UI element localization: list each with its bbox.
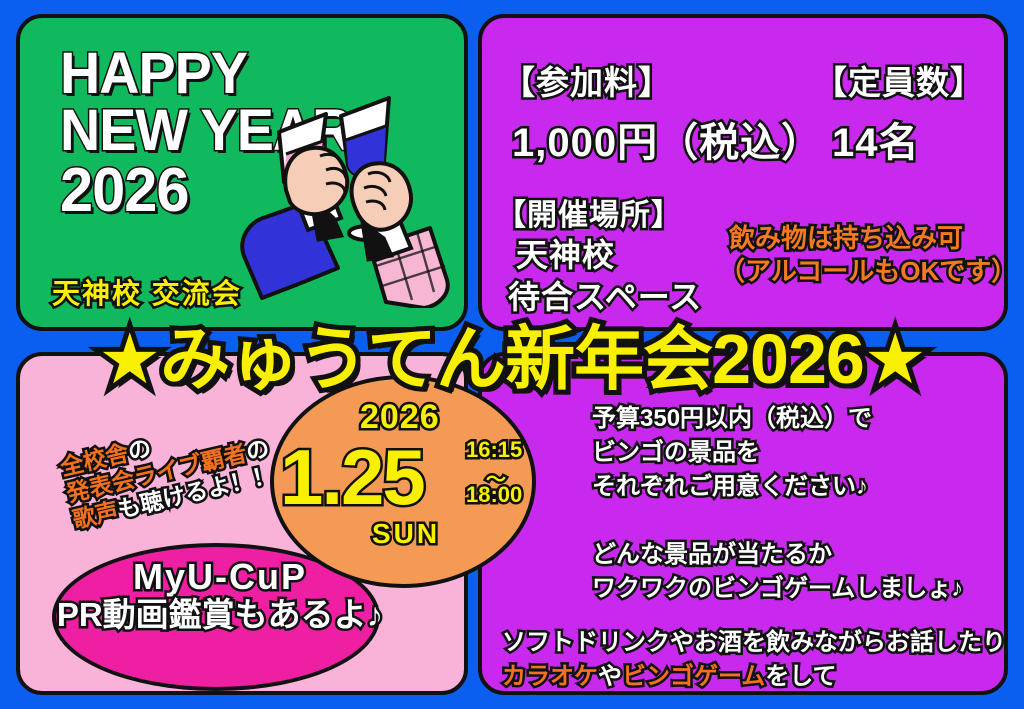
capacity-label: 【定員数】 <box>814 56 984 104</box>
poster-root: HAPPY NEW YEAR 2026 <box>0 0 1024 709</box>
closing-conjunction: や <box>598 663 622 690</box>
prize-note-line-2: ビンゴの景品を <box>592 432 760 467</box>
fee-label: 【参加料】 <box>502 56 672 104</box>
closing-suffix: をして <box>765 663 836 690</box>
closing-note-line-2: カラオケやビンゴゲームをして <box>502 656 837 691</box>
venue-label: 【開催場所】 <box>496 190 682 234</box>
bingo-highlight: ビンゴゲーム <box>622 663 765 690</box>
myucup-subtitle: PR動画鑑賞もあるよ♪ <box>30 597 410 634</box>
bingo-note-line-2: ワクワクのビンゴゲームしましょ♪ <box>592 568 963 603</box>
venue-line-1: 天神校 <box>516 230 615 276</box>
date-day: 1.25 <box>280 432 424 523</box>
toasting-wine-glasses-icon <box>234 70 456 308</box>
bingo-note-line-1: どんな景品が当たるか <box>592 534 832 569</box>
date-day-of-week: SUN <box>372 518 440 550</box>
prize-note-line-3: それぞれご用意ください♪ <box>592 466 868 501</box>
time-end: 18:00 <box>466 482 522 508</box>
byo-note-line-1: 飲み物は持ち込み可 <box>729 218 963 255</box>
capacity-value: 14名 <box>832 110 920 168</box>
details-panel: 【参加料】 1,000円（税込） 【定員数】 14名 【開催場所】 天神校 待合… <box>478 14 1008 331</box>
byo-note-line-2: （アルコールもOKです） <box>719 251 1008 288</box>
page-title: ★みゅうてん新年会2026★ <box>0 303 1024 404</box>
time-start: 16:15 <box>466 437 522 463</box>
karaoke-highlight: カラオケ <box>502 663 598 690</box>
closing-note-line-3: 年始からみんなで楽しみましょう♪ <box>502 690 874 695</box>
fee-value: 1,000円（税込） <box>512 110 822 168</box>
closing-note-line-1: ソフトドリンクやお酒を飲みながらお話したり <box>502 622 1006 657</box>
tilt-line-1-white: の <box>125 434 153 465</box>
